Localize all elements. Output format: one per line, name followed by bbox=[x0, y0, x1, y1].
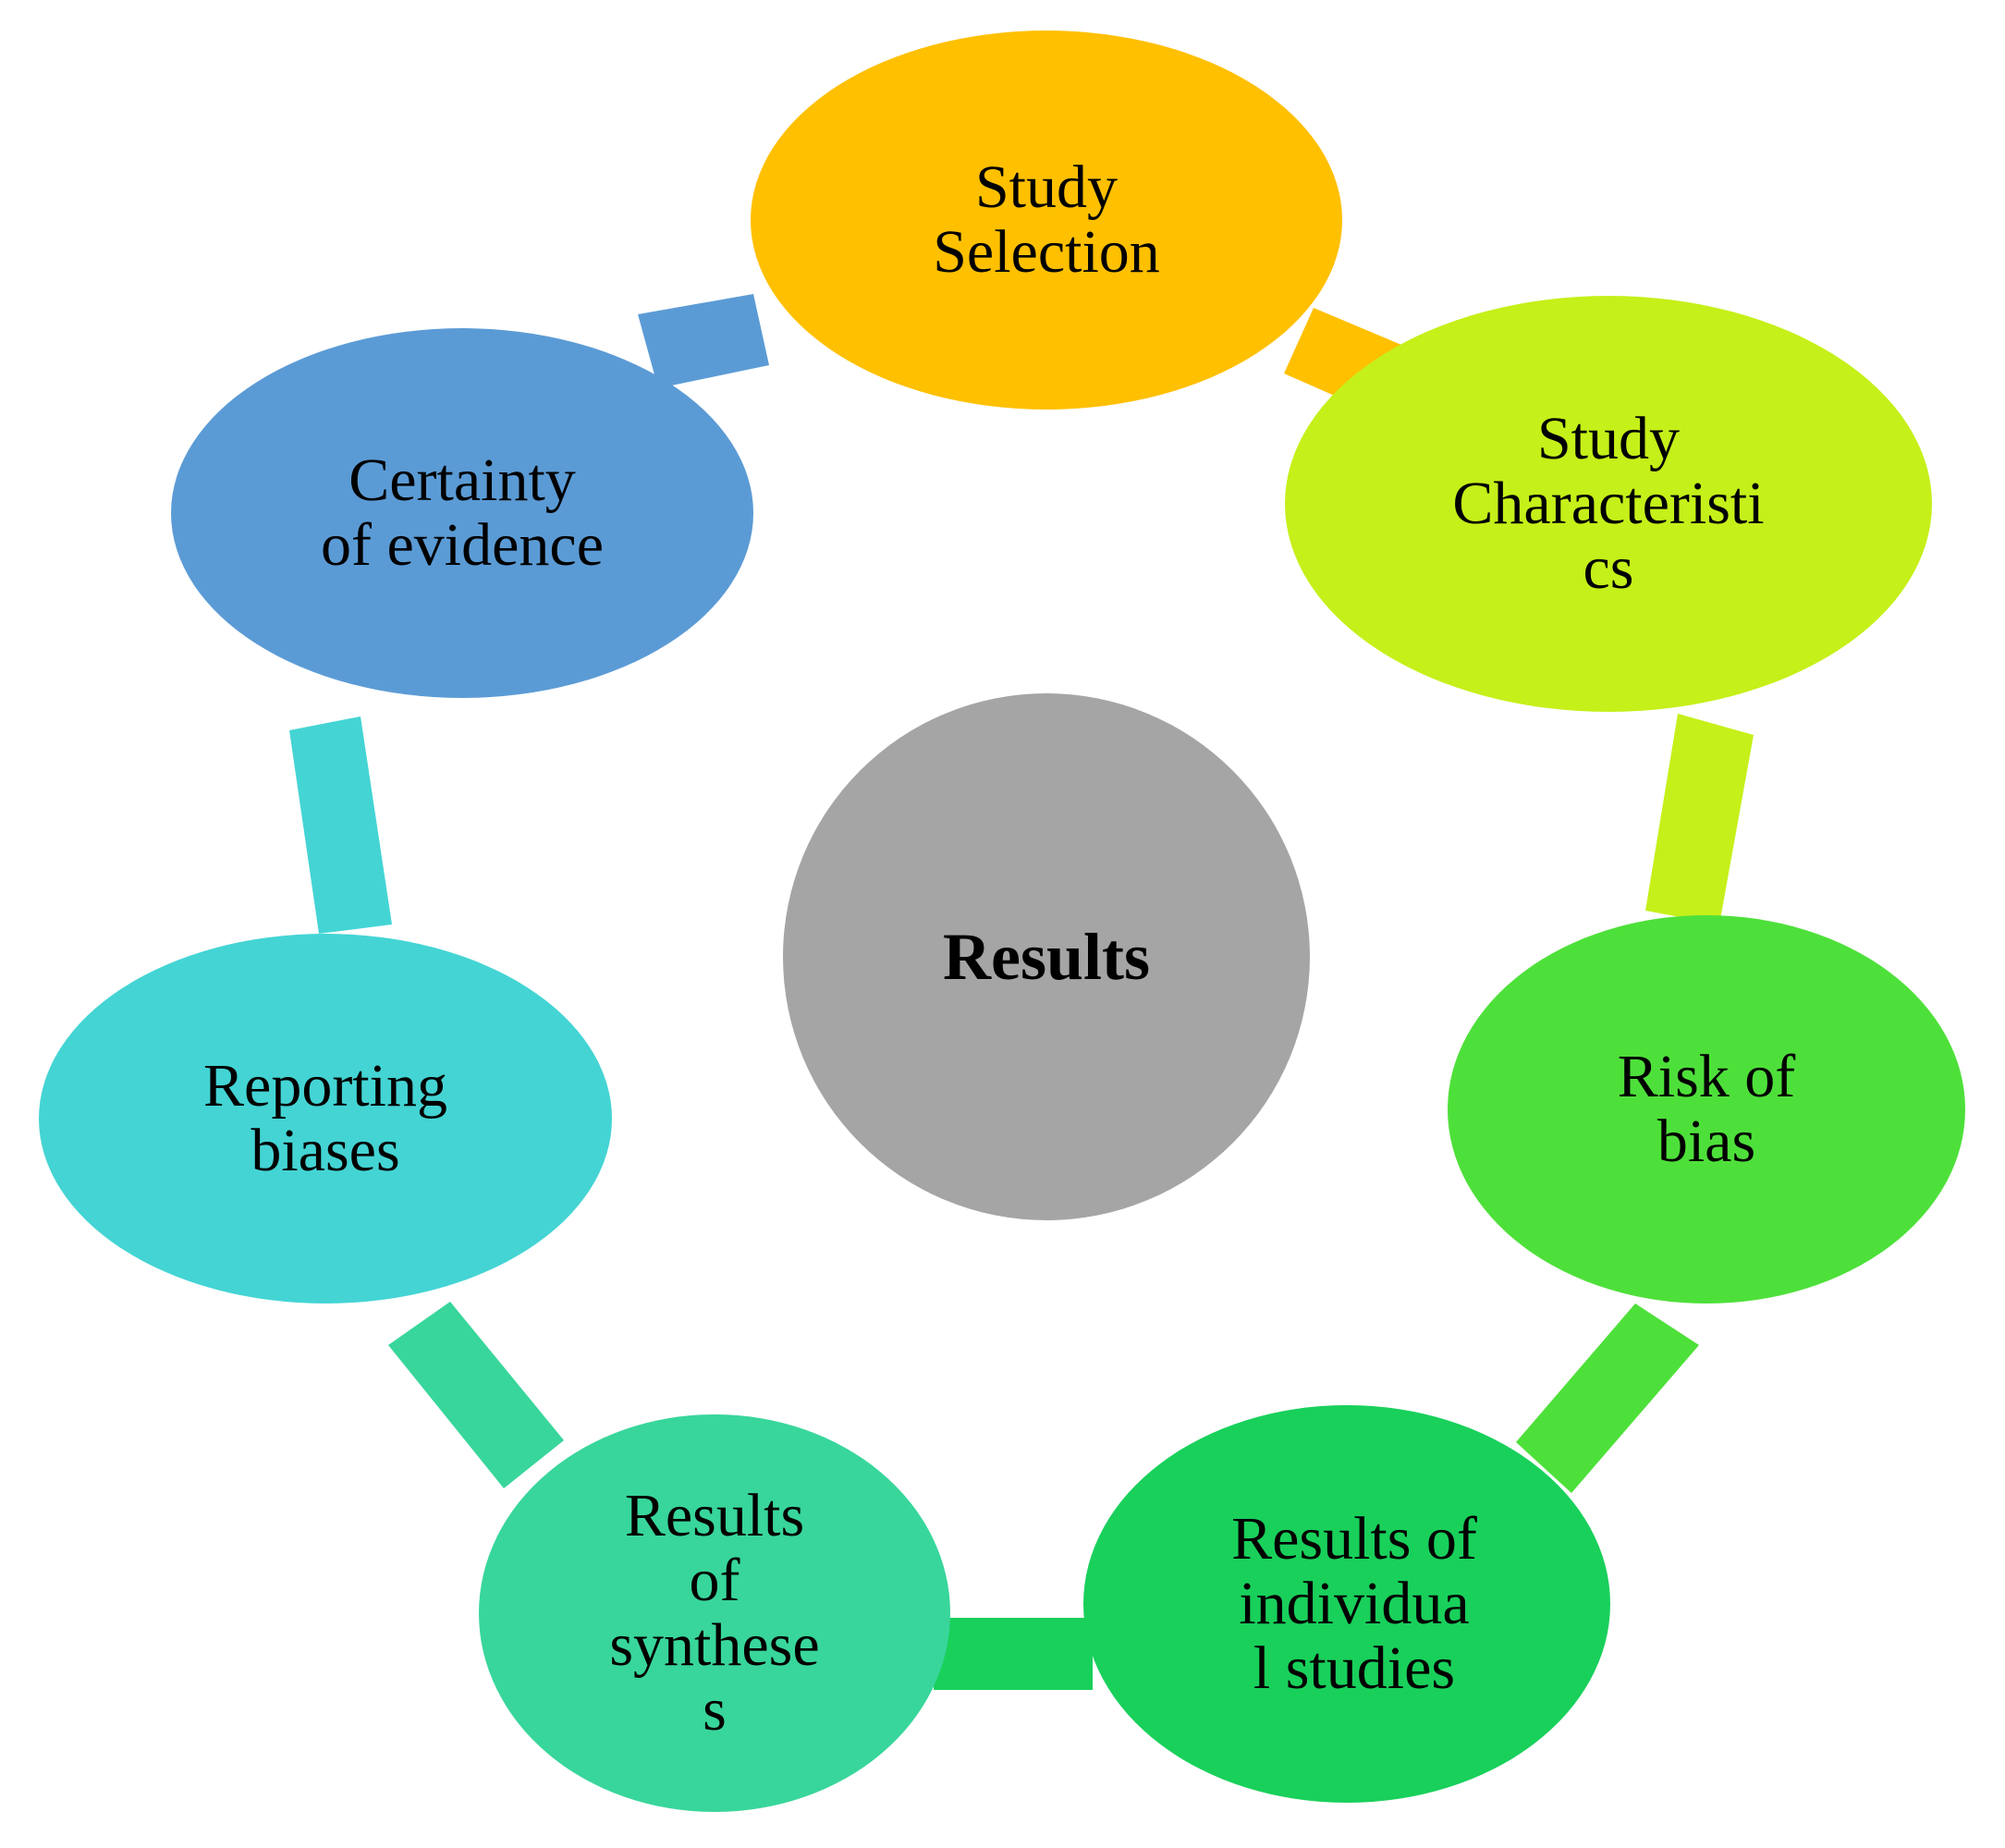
connector-reporting-to-certainty bbox=[289, 716, 392, 934]
node-risk-of-bias[interactable] bbox=[1448, 915, 1965, 1303]
cycle-diagram: Study Selection Study Characteristi cs R… bbox=[0, 0, 2005, 1848]
node-study-characteristics[interactable] bbox=[1285, 296, 1932, 712]
cycle-diagram-canvas bbox=[0, 0, 2005, 1848]
connector-characteristics-to-risk bbox=[1645, 714, 1754, 924]
node-reporting-biases[interactable] bbox=[39, 934, 612, 1303]
connector-syntheses-to-reporting bbox=[388, 1302, 564, 1488]
node-study-selection[interactable] bbox=[751, 31, 1342, 410]
node-results-of-syntheses[interactable] bbox=[479, 1414, 950, 1812]
connector-certainty-to-study-selection bbox=[638, 294, 769, 388]
connector-individual-to-syntheses bbox=[934, 1618, 1093, 1690]
node-certainty-of-evidence[interactable] bbox=[171, 328, 753, 698]
node-results-center[interactable] bbox=[783, 693, 1310, 1220]
node-results-of-individual-studies[interactable] bbox=[1083, 1405, 1610, 1803]
connector-risk-to-individual-studies bbox=[1516, 1303, 1699, 1493]
